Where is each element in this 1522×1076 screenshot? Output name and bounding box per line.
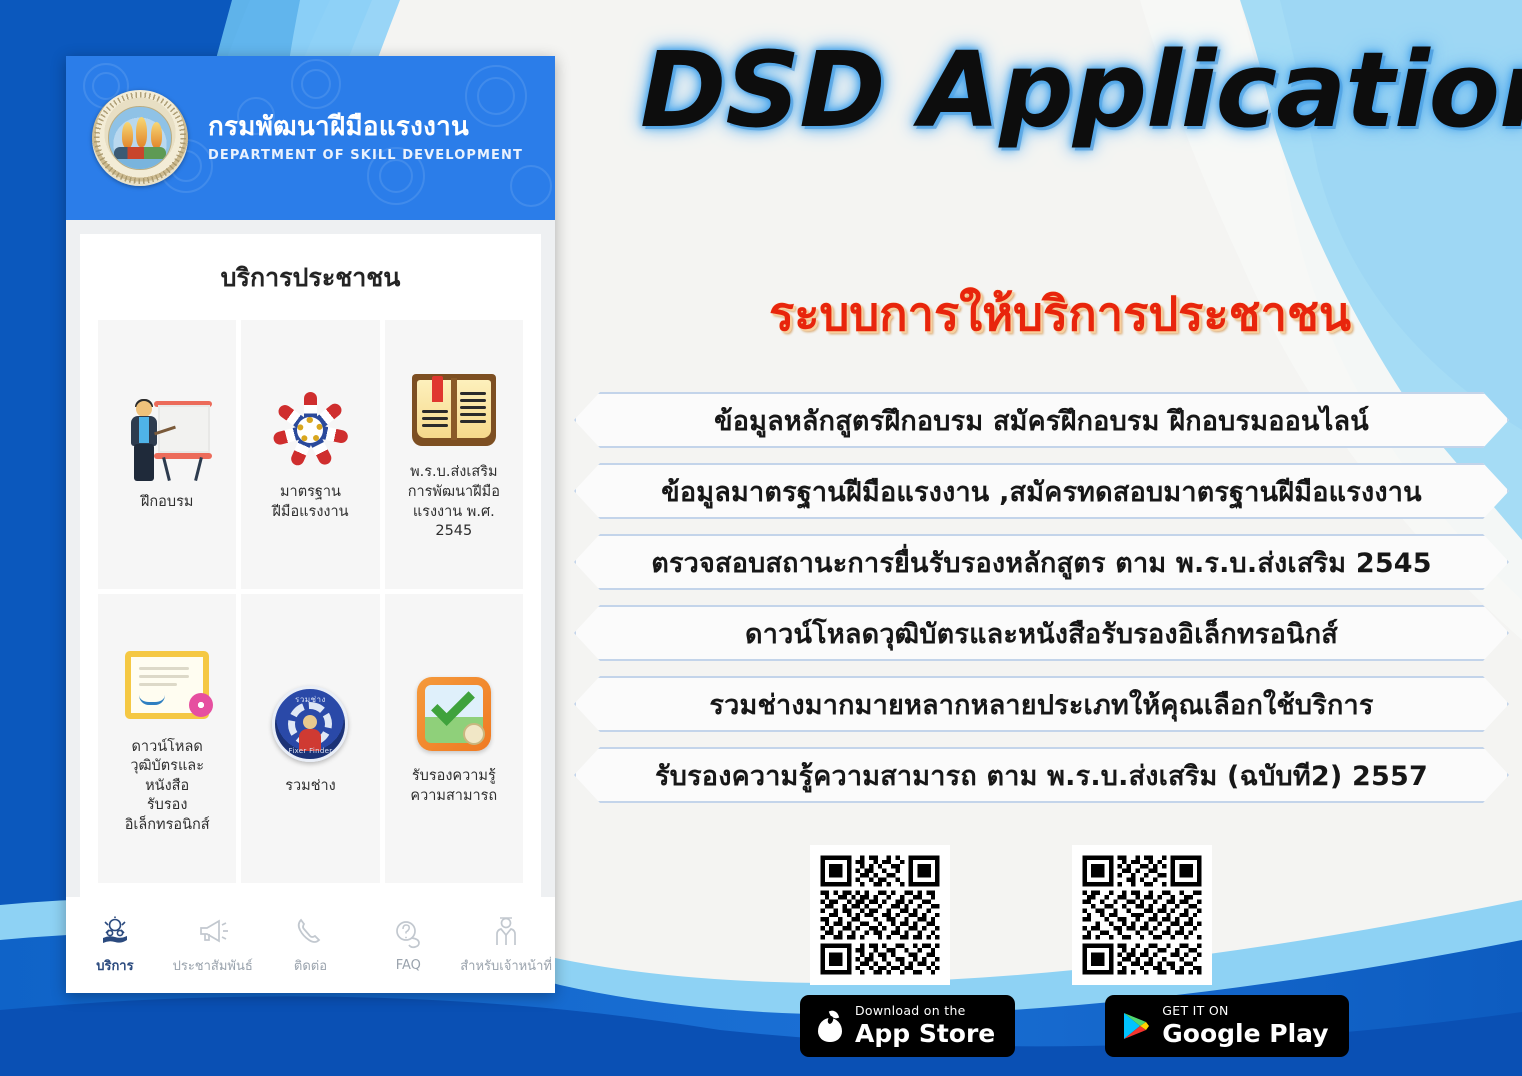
service-tile-training[interactable]: ฝึกอบรม: [98, 320, 236, 589]
feature-text: ดาวน์โหลดวุฒิบัตรและหนังสือรับรองอิเล็กท…: [745, 612, 1338, 655]
certificate-icon: [125, 642, 209, 728]
service-tile-act-2545[interactable]: พ.ร.บ.ส่งเสริมการพัฒนาฝีมือแรงงาน พ.ศ.25…: [385, 320, 523, 589]
google-play-badge-big: Google Play: [1162, 1021, 1328, 1047]
approval-check-icon: [417, 671, 491, 757]
service-tile-label: ฝึกอบรม: [141, 493, 194, 513]
question-bubble-icon: [391, 918, 425, 950]
nav-item-faq[interactable]: FAQ: [359, 918, 457, 973]
service-tile-label: รวมช่าง: [285, 777, 336, 797]
thai-pinwheel-logo-icon: [270, 387, 350, 473]
apple-logo-icon: [817, 1010, 843, 1042]
service-tile-row-2: ดาวน์โหลดวุฒิบัตรและหนังสือรับรองอิเล็กท…: [98, 594, 523, 883]
right-panel: DSD Application ระบบการให้บริการประชาชน …: [560, 0, 1522, 1076]
dsd-emblem-icon: [92, 90, 188, 186]
megaphone-icon: [196, 915, 230, 947]
services-card: บริการประชาชน ฝ: [80, 234, 541, 897]
google-play-badge[interactable]: GET IT ON Google Play: [1105, 995, 1348, 1057]
app-store-qr: [810, 845, 950, 985]
feature-ribbon: ข้อมูลมาตรฐานฝีมือแรงงาน ,สมัครทดสอบมาตร…: [574, 463, 1509, 519]
nav-item-label: ติดต่อ: [294, 955, 327, 976]
app-body: บริการประชาชน ฝ: [66, 220, 555, 897]
app-header: กรมพัฒนาฝีมือแรงงาน DEPARTMENT OF SKILL …: [66, 56, 555, 220]
service-tile-ecertificate[interactable]: ดาวน์โหลดวุฒิบัตรและหนังสือรับรองอิเล็กท…: [98, 594, 236, 883]
service-tile-fixer-finder[interactable]: รวมช่าง Fixer Finder รวมช่าง: [241, 594, 379, 883]
store-badge-row: Download on the App Store GET IT ON Goog…: [800, 995, 1349, 1057]
feature-text: รวมช่างมากมายหลากหลายประเภทให้คุณเลือกใช…: [709, 683, 1373, 726]
phone-icon: [293, 915, 327, 947]
service-tile-label: มาตรฐานฝีมือแรงงาน: [272, 483, 348, 522]
fixer-finder-badge-icon: รวมช่าง Fixer Finder: [272, 681, 348, 767]
services-hands-icon: [98, 915, 132, 947]
nav-item-label: สำหรับเจ้าหน้าที่: [460, 955, 552, 976]
feature-ribbon: ตรวจสอบสถานะการยื่นรับรองหลักสูตร ตาม พ.…: [574, 534, 1509, 590]
service-tile-competency[interactable]: รับรองความรู้ความสามารถ: [385, 594, 523, 883]
service-tile-label: พ.ร.บ.ส่งเสริมการพัฒนาฝีมือแรงงาน พ.ศ.25…: [408, 463, 500, 541]
feature-text: รับรองความรู้ความสามารถ ตาม พ.ร.บ.ส่งเสร…: [655, 754, 1428, 797]
service-tile-label: ดาวน์โหลดวุฒิบัตรและหนังสือรับรองอิเล็กท…: [125, 738, 210, 836]
bottom-navigation: บริการ ประชาสัมพันธ์ ต: [66, 897, 555, 993]
nav-item-label: FAQ: [396, 958, 421, 973]
google-play-qr: [1072, 845, 1212, 985]
google-play-badge-small: GET IT ON: [1162, 1005, 1328, 1018]
nav-item-label: ประชาสัมพันธ์: [173, 955, 253, 976]
services-heading: บริการประชาชน: [98, 258, 523, 298]
app-store-badge-small: Download on the: [855, 1005, 995, 1018]
service-tile-row-1: ฝึกอบรม: [98, 320, 523, 589]
feature-ribbon: ดาวน์โหลดวุฒิบัตรและหนังสือรับรองอิเล็กท…: [574, 605, 1509, 661]
feature-text: ข้อมูลมาตรฐานฝีมือแรงงาน ,สมัครทดสอบมาตร…: [661, 470, 1422, 513]
feature-ribbon: ข้อมูลหลักสูตรฝึกอบรม สมัครฝึกอบรม ฝึกอบ…: [574, 392, 1509, 448]
feature-ribbon: รับรองความรู้ความสามารถ ตาม พ.ร.บ.ส่งเสร…: [574, 747, 1509, 803]
feature-ribbon: รวมช่างมากมายหลากหลายประเภทให้คุณเลือกใช…: [574, 676, 1509, 732]
google-play-logo-icon: [1122, 1011, 1150, 1041]
service-tile-standards[interactable]: มาตรฐานฝีมือแรงงาน: [241, 320, 379, 589]
nav-item-services[interactable]: บริการ: [66, 915, 164, 976]
officer-icon: [489, 915, 523, 947]
nav-item-contact[interactable]: ติดต่อ: [262, 915, 360, 976]
open-book-icon: [412, 367, 496, 453]
nav-item-label: บริการ: [96, 955, 133, 976]
poster-canvas: กรมพัฒนาฝีมือแรงงาน DEPARTMENT OF SKILL …: [0, 0, 1522, 1076]
poster-headline: DSD Application: [640, 38, 1440, 142]
app-title-thai: กรมพัฒนาฝีมือแรงงาน: [208, 113, 523, 143]
feature-text: ตรวจสอบสถานะการยื่นรับรองหลักสูตร ตาม พ.…: [651, 541, 1432, 584]
trainer-whiteboard-icon: [124, 397, 210, 483]
nav-item-news[interactable]: ประชาสัมพันธ์: [164, 915, 262, 976]
app-store-badge-big: App Store: [855, 1021, 995, 1047]
feature-list: ข้อมูลหลักสูตรฝึกอบรม สมัครฝึกอบรม ฝึกอบ…: [574, 392, 1509, 818]
phone-mockup: กรมพัฒนาฝีมือแรงงาน DEPARTMENT OF SKILL …: [66, 56, 555, 993]
poster-subheadline: ระบบการให้บริการประชาชน: [690, 276, 1430, 351]
app-title-english: DEPARTMENT OF SKILL DEVELOPMENT: [208, 148, 523, 163]
nav-item-officer[interactable]: สำหรับเจ้าหน้าที่: [457, 915, 555, 976]
service-tile-label: รับรองความรู้ความสามารถ: [410, 767, 497, 806]
app-store-badge[interactable]: Download on the App Store: [800, 995, 1015, 1057]
feature-text: ข้อมูลหลักสูตรฝึกอบรม สมัครฝึกอบรม ฝึกอบ…: [714, 399, 1369, 442]
qr-code-row: [810, 845, 1230, 985]
